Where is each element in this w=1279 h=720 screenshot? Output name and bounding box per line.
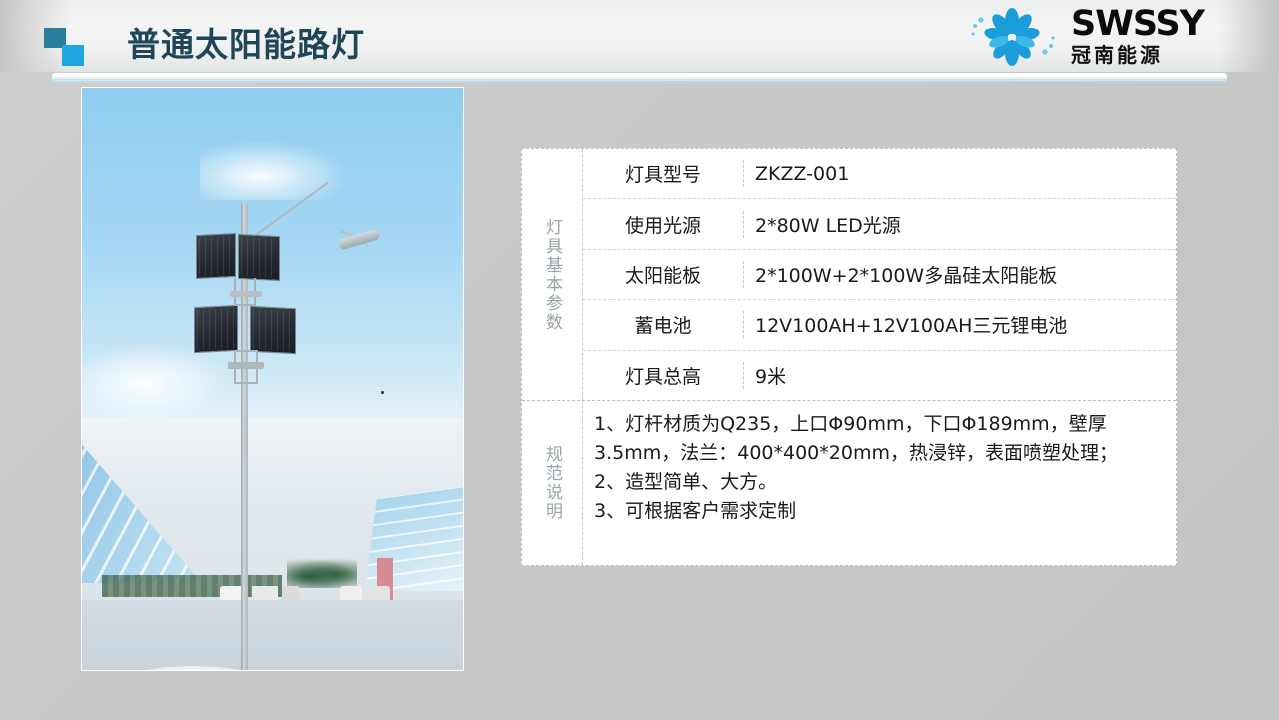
logo-chinese-name: 冠南能源 [1071, 43, 1204, 67]
row-value: 2*100W+2*100W多晶硅太阳能板 [744, 261, 1176, 288]
row-value: 9米 [744, 362, 1176, 389]
table-row: 灯具总高 9米 [583, 351, 1176, 400]
slide-header: 普通太阳能路灯 SWSSY [0, 0, 1279, 72]
row-value: 2*80W LED光源 [744, 211, 1176, 238]
basic-parameters-section: 灯具基本参数 灯具型号 ZKZZ-001 使用光源 2*80W LED光源 太阳… [522, 149, 1176, 401]
parked-cars [340, 586, 390, 601]
table-row: 蓄电池 12V100AH+12V100AH三元锂电池 [583, 300, 1176, 350]
logo-text-block: SWSSY 冠南能源 [1071, 6, 1204, 67]
note-line: 2、造型简单、大方。 [594, 468, 1164, 497]
header-divider-glow [52, 79, 1227, 84]
row-label: 灯具型号 [583, 160, 744, 187]
specification-notes-header: 规范说明 [522, 401, 583, 565]
row-label: 灯具总高 [583, 362, 744, 389]
panel-mount-cap [228, 362, 264, 369]
blue-water-droplet-flower-logo [959, 8, 1065, 66]
row-label: 蓄电池 [583, 311, 744, 338]
two-squares-icon [44, 28, 92, 66]
row-label: 使用光源 [583, 211, 744, 238]
solar-panel [194, 305, 238, 353]
solar-panel [250, 306, 296, 354]
solar-street-light-photo [82, 88, 463, 670]
solar-panel [196, 233, 236, 279]
row-value: ZKZZ-001 [744, 163, 1176, 185]
specification-notes: 1、灯杆材质为Q235，上口Φ90mm，下口Φ189mm，壁厚3.5mm，法兰：… [583, 401, 1176, 565]
tree-cluster [287, 558, 357, 588]
note-line: 3、可根据客户需求定制 [594, 497, 1164, 526]
parameter-rows: 灯具型号 ZKZZ-001 使用光源 2*80W LED光源 太阳能板 2*10… [583, 149, 1176, 400]
basic-parameters-header: 灯具基本参数 [522, 149, 583, 400]
paved-plaza [82, 600, 463, 670]
photo-speck [381, 391, 384, 394]
logo-wordmark: SWSSY [1071, 6, 1204, 42]
note-line: 1、灯杆材质为Q235，上口Φ90mm，下口Φ189mm，壁厚3.5mm，法兰：… [594, 410, 1164, 468]
specification-notes-section: 规范说明 1、灯杆材质为Q235，上口Φ90mm，下口Φ189mm，壁厚3.5m… [522, 401, 1176, 565]
table-row: 使用光源 2*80W LED光源 [583, 199, 1176, 249]
panel-mount-cap [230, 291, 262, 297]
specification-table: 灯具基本参数 灯具型号 ZKZZ-001 使用光源 2*80W LED光源 太阳… [521, 148, 1177, 566]
company-logo: SWSSY 冠南能源 [959, 6, 1209, 68]
solar-panel [238, 234, 280, 281]
table-row: 太阳能板 2*100W+2*100W多晶硅太阳能板 [583, 250, 1176, 300]
cloud-shape [82, 343, 232, 423]
header-right-gradient [1219, 0, 1279, 72]
page-title: 普通太阳能路灯 [127, 18, 365, 66]
table-row: 灯具型号 ZKZZ-001 [583, 149, 1176, 199]
row-value: 12V100AH+12V100AH三元锂电池 [744, 311, 1176, 338]
square-light-icon [62, 45, 84, 66]
row-label: 太阳能板 [583, 261, 744, 288]
